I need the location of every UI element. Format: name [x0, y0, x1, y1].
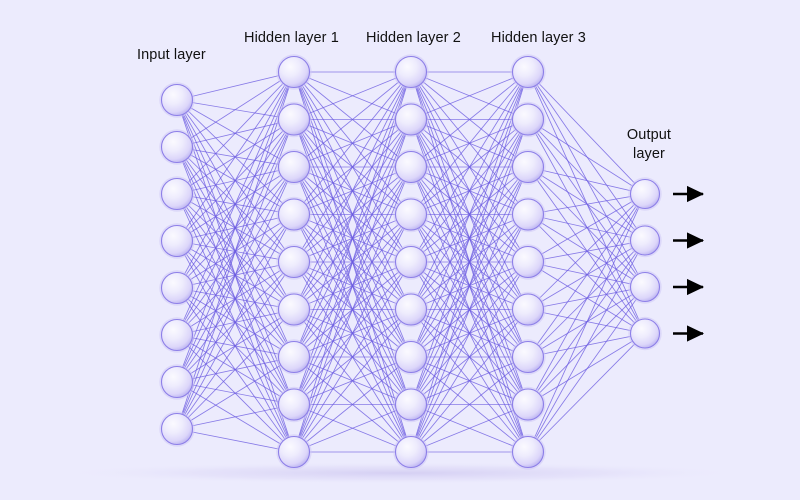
neuron-hidden3-8[interactable] [513, 389, 544, 420]
neuron-hidden3-1[interactable] [513, 57, 544, 88]
neuron-hidden2-5[interactable] [396, 247, 427, 278]
layer-label-input: Input layer [137, 46, 206, 65]
neuron-hidden3-3[interactable] [513, 152, 544, 183]
neuron-hidden1-1[interactable] [279, 57, 310, 88]
connection-line [177, 429, 294, 452]
neuron-hidden1-8[interactable] [279, 389, 310, 420]
neuron-hidden1-2[interactable] [279, 104, 310, 135]
neuron-input-1[interactable] [162, 85, 193, 116]
neuron-input-6[interactable] [162, 320, 193, 351]
neuron-hidden3-5[interactable] [513, 247, 544, 278]
neuron-input-5[interactable] [162, 273, 193, 304]
connection-line [177, 310, 294, 430]
connection-line [177, 72, 294, 194]
connection-line [528, 310, 645, 334]
layer-label-hidden-2: Hidden layer 2 [366, 29, 461, 48]
neuron-input-3[interactable] [162, 179, 193, 210]
layer-label-output: Output layer [614, 126, 684, 164]
connection-line [177, 215, 294, 430]
neuron-hidden3-4[interactable] [513, 199, 544, 230]
neuron-hidden2-2[interactable] [396, 104, 427, 135]
neuron-input-7[interactable] [162, 367, 193, 398]
diagram-canvas: Input layer Hidden layer 1 Hidden layer … [0, 0, 800, 500]
layer-label-hidden-3: Hidden layer 3 [491, 29, 586, 48]
connection-line [177, 357, 294, 429]
layer-label-output-line2: layer [633, 146, 665, 162]
connection-line [177, 72, 294, 288]
neuron-hidden2-3[interactable] [396, 152, 427, 183]
connection-line [177, 72, 294, 429]
neuron-hidden1-3[interactable] [279, 152, 310, 183]
neuron-hidden1-4[interactable] [279, 199, 310, 230]
connection-line [177, 72, 294, 147]
neuron-output-4[interactable] [631, 319, 660, 348]
neuron-hidden2-9[interactable] [396, 437, 427, 468]
neuron-output-2[interactable] [631, 226, 660, 255]
neuron-nodes [159, 54, 661, 469]
connection-line [528, 167, 645, 287]
neuron-hidden3-7[interactable] [513, 342, 544, 373]
layer-label-output-line1: Output [627, 127, 671, 143]
neuron-input-8[interactable] [162, 414, 193, 445]
neuron-hidden2-4[interactable] [396, 199, 427, 230]
neuron-hidden2-6[interactable] [396, 294, 427, 325]
connection-line [177, 72, 294, 100]
connection-line [528, 167, 645, 194]
neuron-hidden2-8[interactable] [396, 389, 427, 420]
connection-line [177, 405, 294, 430]
neuron-hidden1-9[interactable] [279, 437, 310, 468]
neural-network-svg [0, 0, 800, 500]
neuron-output-1[interactable] [631, 180, 660, 209]
connection-line [528, 334, 645, 453]
neuron-hidden3-9[interactable] [513, 437, 544, 468]
neuron-output-3[interactable] [631, 273, 660, 302]
neuron-hidden2-1[interactable] [396, 57, 427, 88]
neuron-hidden1-5[interactable] [279, 247, 310, 278]
neuron-hidden3-6[interactable] [513, 294, 544, 325]
connection-line [177, 72, 294, 335]
neuron-input-4[interactable] [162, 226, 193, 257]
output-arrows [673, 194, 703, 334]
neuron-hidden2-7[interactable] [396, 342, 427, 373]
neuron-hidden1-7[interactable] [279, 342, 310, 373]
neuron-input-2[interactable] [162, 132, 193, 163]
neuron-hidden1-6[interactable] [279, 294, 310, 325]
layer-label-hidden-1: Hidden layer 1 [244, 29, 339, 48]
neuron-hidden3-2[interactable] [513, 104, 544, 135]
